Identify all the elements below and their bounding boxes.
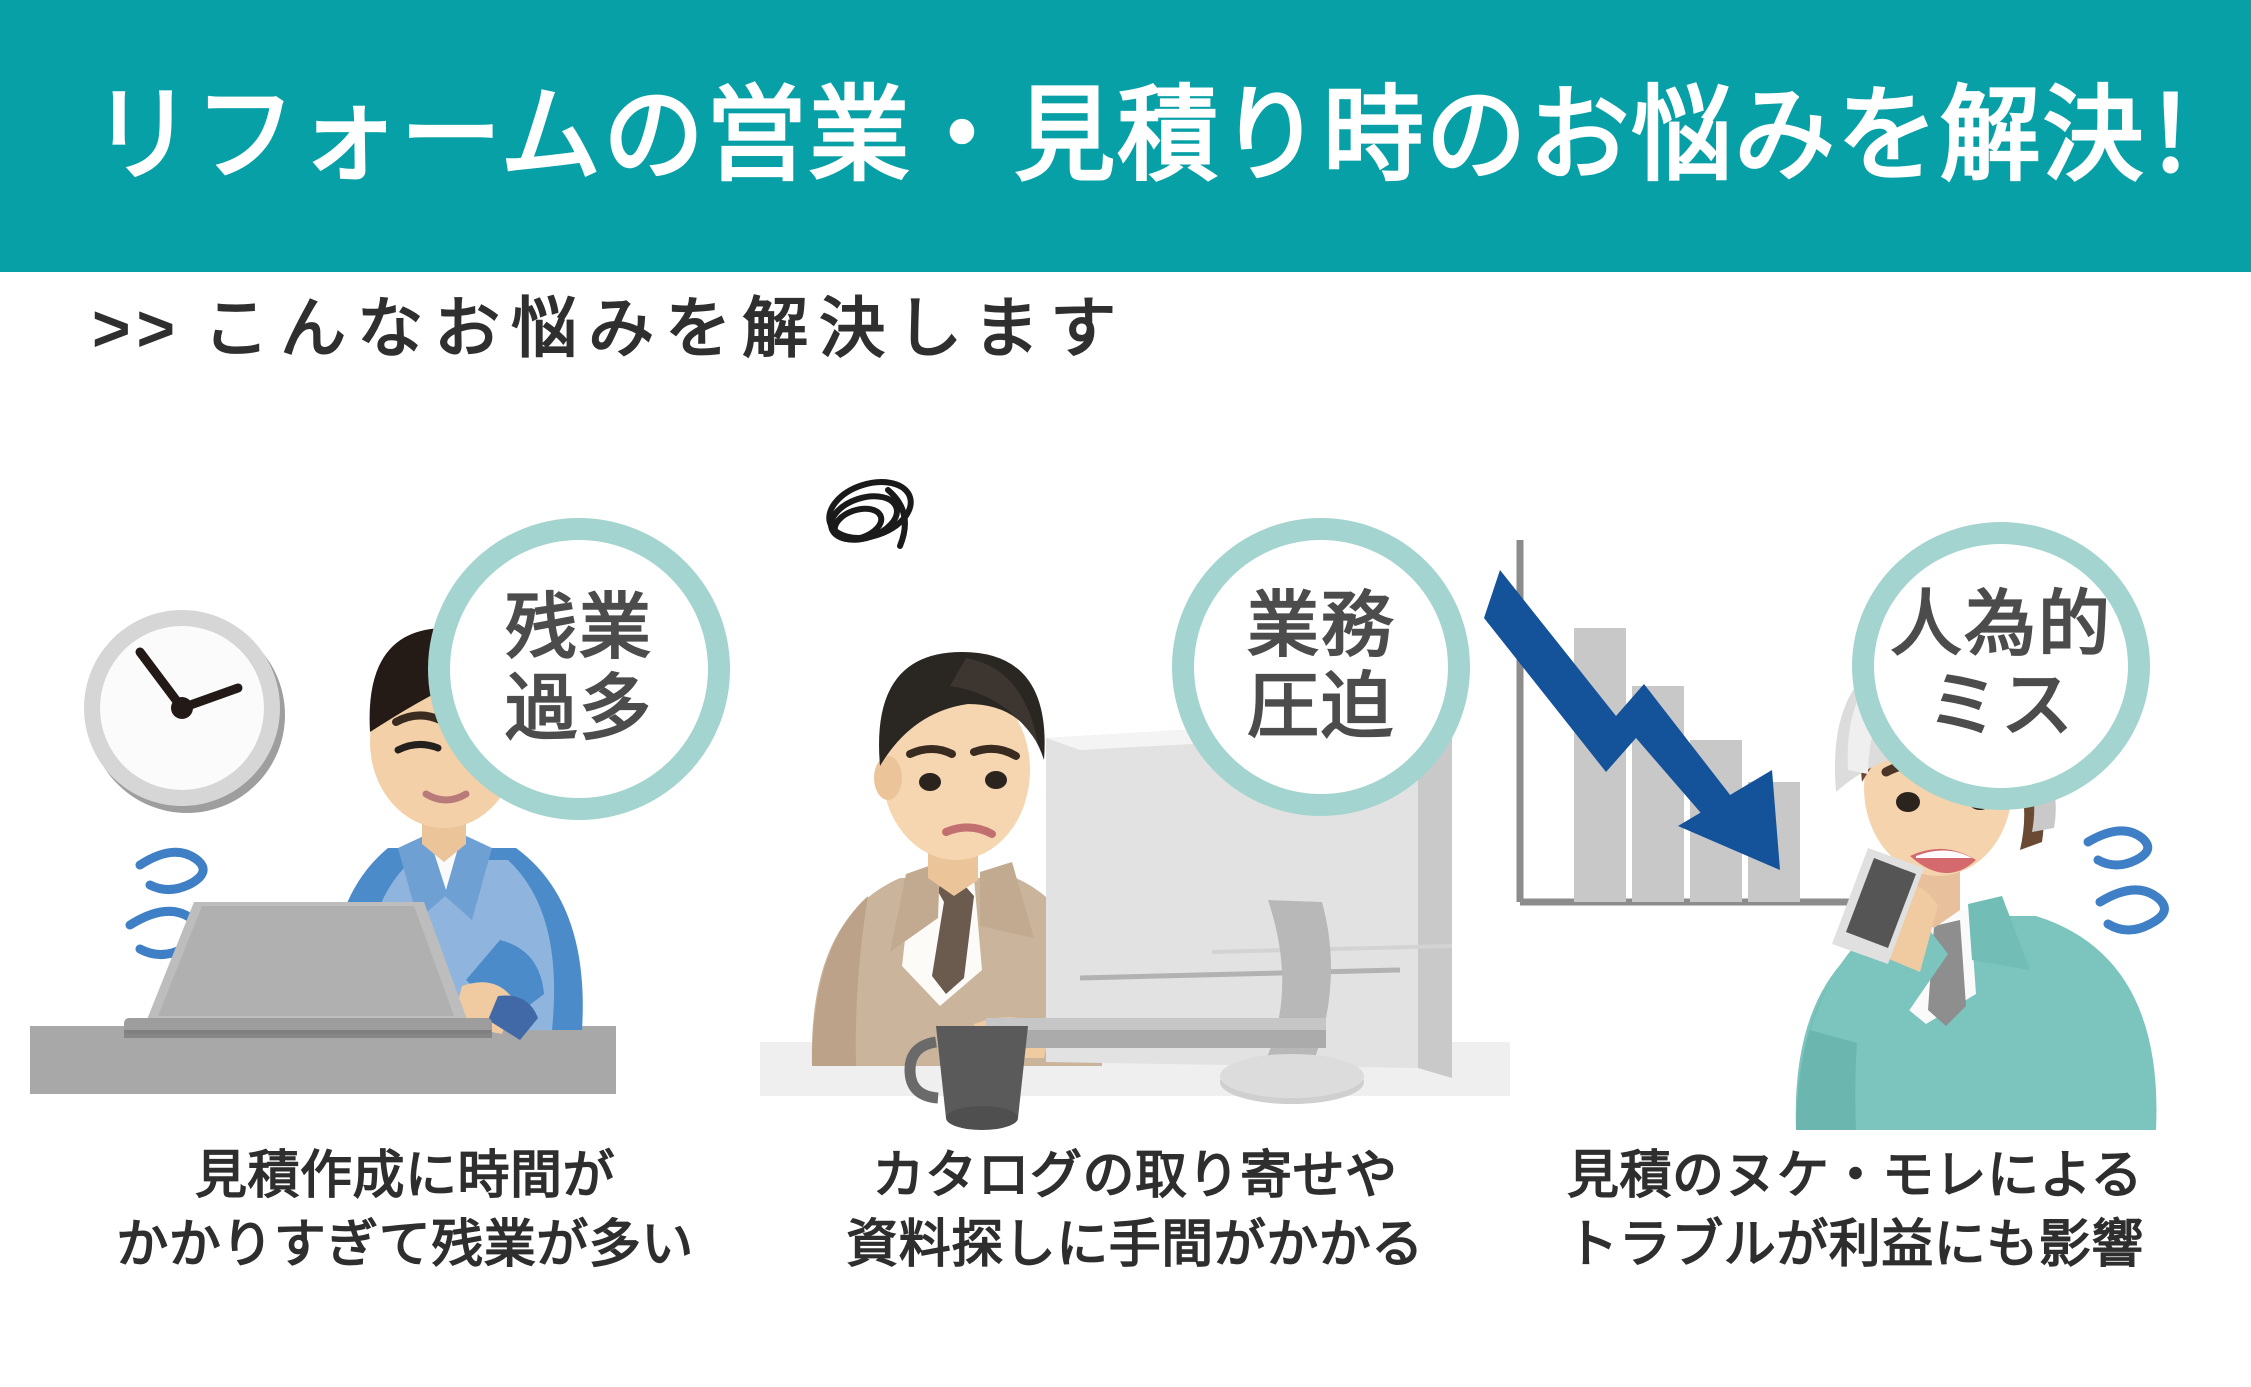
badge-line-1: 人為的 [1890,585,2112,666]
page-title: リフォームの営業・見積り時のお悩みを解決！ [92,84,2248,188]
caption-line-2: かかりすぎて残業が多い [30,1211,780,1280]
clock-icon [84,610,285,813]
panel-caption-human-error: 見積のヌケ・モレによる トラブルが利益にも影響 [1480,1142,2230,1279]
caption-line-2: トラブルが利益にも影響 [1480,1211,2230,1280]
bar-1 [1574,628,1626,902]
caption-line-1: 見積作成に時間が [30,1142,780,1211]
badge-line-2: 圧迫 [1247,667,1395,748]
woman-on-phone-svg [1480,470,2230,1130]
problem-panel-overtime: 残業 過多 見積作成に時間が かかりすぎて残業が多い [30,470,780,1370]
frustration-scribble-icon [822,472,918,547]
badge-workload: 業務 圧迫 [1172,518,1470,816]
panel-caption-overtime: 見積作成に時間が かかりすぎて残業が多い [30,1142,780,1279]
illustration-woman-on-phone-with-chart [1480,470,2230,1130]
panel-caption-workload: カタログの取り寄せや 資料探しに手間がかかる [760,1142,1510,1279]
caption-line-2: 資料探しに手間がかかる [760,1211,1510,1280]
problem-panel-workload: 業務 圧迫 カタログの取り寄せや 資料探しに手間がかかる [760,470,1510,1370]
badge-overtime: 残業 過多 [428,518,730,820]
badge-line-2: 過多 [505,669,653,750]
caption-line-1: カタログの取り寄せや [760,1142,1510,1211]
double-chevron-right-icon: >> [92,295,181,361]
badge-human-error: 人為的 ミス [1852,522,2150,810]
badge-line-1: 業務 [1247,586,1395,667]
section-subtitle: >> こんなお悩みを解決します [92,295,1127,361]
caption-line-1: 見積のヌケ・モレによる [1480,1142,2230,1211]
declining-bar-chart [1484,540,1874,902]
header-band: リフォームの営業・見積り時のお悩みを解決！ [0,0,2251,272]
badge-line-1: 残業 [505,588,653,669]
problem-panels: 残業 過多 見積作成に時間が かかりすぎて残業が多い [0,470,2251,1370]
badge-line-2: ミス [1927,666,2075,747]
sweat-marks [2088,831,2164,930]
problem-panel-human-error: 人為的 ミス 見積のヌケ・モレによる トラブルが利益にも影響 [1480,470,2230,1370]
section-subtitle-label: こんなお悩みを解決します [203,295,1127,361]
